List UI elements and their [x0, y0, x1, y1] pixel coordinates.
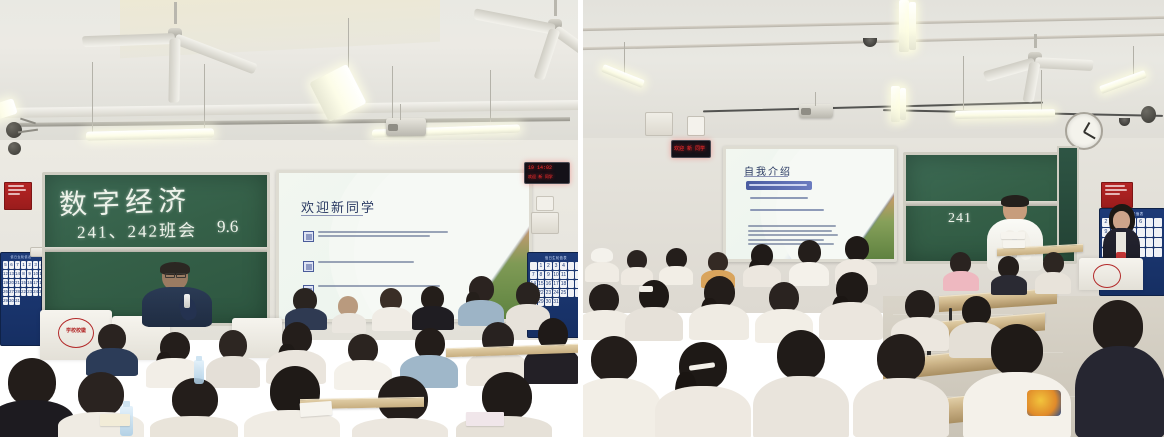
slide-highlight-bar	[746, 181, 812, 190]
projector	[386, 118, 426, 136]
slide-title: 欢迎新同学	[301, 197, 376, 216]
audience-person	[585, 248, 619, 282]
ceiling-fan	[90, 8, 260, 58]
audience-person	[659, 248, 693, 284]
audience-person	[621, 250, 653, 284]
projector-mount	[815, 92, 816, 106]
slide-bullet	[303, 261, 453, 272]
audience-person	[991, 256, 1027, 294]
light-wire	[490, 70, 491, 122]
speaker-person	[140, 262, 214, 324]
audience-person	[583, 336, 661, 437]
wall-clock	[1065, 112, 1103, 150]
right-photo: 欢迎 新 同学 自我介绍	[583, 0, 1164, 437]
wall-panel	[531, 212, 559, 234]
blackboard-date-chalk: 9.6	[217, 217, 239, 237]
led-text: 欢迎 新 同学	[674, 145, 705, 152]
paper-sheet	[100, 414, 130, 426]
audience-person	[372, 288, 412, 330]
red-notice-sign	[4, 182, 32, 210]
hair-clip	[639, 286, 653, 292]
paper-sheet	[300, 401, 333, 417]
audience-person	[625, 280, 683, 342]
projector-mount	[400, 104, 401, 120]
slide-title-underline	[301, 215, 363, 216]
school-emblem	[1093, 264, 1121, 288]
audience-person	[150, 378, 238, 437]
slide-bullet	[303, 231, 453, 242]
calendar-grid: 5671234 121314891011 19202115161718 2627…	[3, 261, 39, 305]
slide-line	[750, 209, 824, 211]
bullet-square-icon	[303, 261, 314, 272]
water-bottle	[194, 360, 204, 384]
led-line-2: 欢迎 新 同学	[528, 174, 553, 180]
audience-person	[412, 286, 454, 330]
wall-panel	[645, 112, 673, 136]
glasses-icon	[165, 273, 175, 278]
wall-socket	[536, 196, 554, 211]
audience-person	[943, 252, 979, 290]
ceiling-fan	[965, 36, 1105, 78]
book-stack	[1001, 232, 1025, 239]
bullet-square-icon	[303, 231, 314, 242]
glasses-icon	[176, 273, 186, 278]
blackboard-class-chalk: 241	[948, 211, 972, 227]
bullet-text-lines	[318, 231, 450, 237]
audience-person	[753, 330, 849, 437]
audience-person	[332, 296, 366, 332]
podium	[1079, 258, 1143, 290]
wall-speaker	[2, 118, 36, 166]
tube-light	[601, 42, 647, 98]
shirt-graphic	[1027, 390, 1061, 416]
photo-pair-figure: 值日生轮值表 5671234 121314891011 192021151617…	[0, 0, 1164, 437]
audience-person	[689, 276, 749, 342]
audience-person	[963, 324, 1071, 437]
audience-person	[655, 342, 751, 437]
tube-light	[1099, 46, 1155, 104]
calendar-header: 值日生轮值表	[530, 255, 578, 260]
audience-person	[456, 372, 552, 437]
audience-person	[458, 276, 504, 326]
projector	[799, 104, 833, 118]
light-wire	[348, 18, 349, 72]
blackboard-subtitle-chalk: 241、242班会	[77, 216, 197, 243]
led-line-1: 19 14:02	[528, 165, 552, 171]
tube-light	[887, 86, 909, 130]
slide-line	[750, 197, 808, 199]
door-panel	[1057, 146, 1079, 250]
ceiling-fan	[480, 2, 578, 46]
microphone	[184, 294, 190, 308]
light-wire	[92, 62, 93, 134]
audience-person	[1075, 300, 1164, 437]
wall-calendar: 值日生轮值表 5671234 121314891011 192021151617…	[0, 252, 42, 346]
bullet-text-lines	[318, 261, 428, 263]
panel-divider	[578, 0, 583, 437]
led-display: 19 14:02 欢迎 新 同学	[524, 162, 570, 184]
wall-panel	[687, 116, 705, 136]
audience-person	[853, 334, 949, 437]
wall-speaker	[1139, 104, 1159, 126]
light-wire	[392, 66, 393, 122]
left-photo: 值日生轮值表 5671234 121314891011 192021151617…	[0, 0, 578, 437]
slide-title-underline	[744, 176, 788, 177]
paper-sheet	[466, 412, 504, 426]
light-wire	[204, 64, 205, 128]
tube-light	[893, 0, 919, 60]
audience-person	[1035, 252, 1071, 292]
book-stack	[1003, 240, 1025, 248]
audience-person	[86, 324, 138, 376]
led-display: 欢迎 新 同学	[671, 140, 711, 158]
